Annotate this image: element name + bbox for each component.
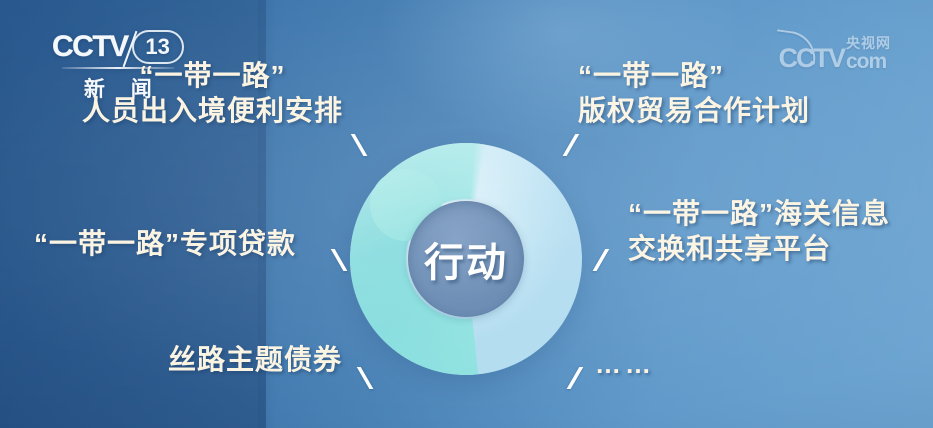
connector-top-left [222,135,368,157]
node-line: “一带一路” [578,58,810,93]
node-line: “一带一路” [82,58,343,93]
node-line: 交换和共享平台 [628,231,890,266]
node-line: “一带一路”专项贷款 [34,226,296,261]
watermark-right-stack: 央视网 com [846,36,891,72]
connector-tick [563,134,580,156]
connector-tick [567,367,584,389]
node-label-entry-exit: “一带一路” 人员出入境便利安排 [82,58,343,129]
node-label-special-loan: “一带一路”专项贷款 [34,226,296,261]
node-label-copyright-trade: “一带一路” 版权贸易合作计划 [578,58,810,129]
watermark-com-text: com [846,51,886,72]
node-line: …… [595,348,655,381]
center-label: 行动 [424,230,508,288]
channel-number: 13 [145,36,169,58]
connector-top-right [562,135,708,157]
connector-tick [357,367,374,389]
donut-inner-circle: 行动 [408,201,524,317]
center-donut-graphic: 行动 [350,143,582,375]
node-line: 丝路主题债券 [168,342,342,377]
watermark-cn-text: 央视网 [846,36,891,50]
node-label-silk-road-bond: 丝路主题债券 [168,342,342,377]
node-label-customs-info: “一带一路”海关信息 交换和共享平台 [628,196,890,267]
broadcast-graphic: CCTV 13 新 闻 CCTV 央视网 com 行动 [0,0,933,428]
connector-tick [331,249,348,271]
node-line: 版权贸易合作计划 [578,93,810,128]
node-line: 人员出入境便利安排 [82,93,343,128]
connector-tick [351,134,368,156]
node-label-more: …… [595,348,655,381]
node-line: “一带一路”海关信息 [628,196,890,231]
connector-tick [593,249,610,271]
